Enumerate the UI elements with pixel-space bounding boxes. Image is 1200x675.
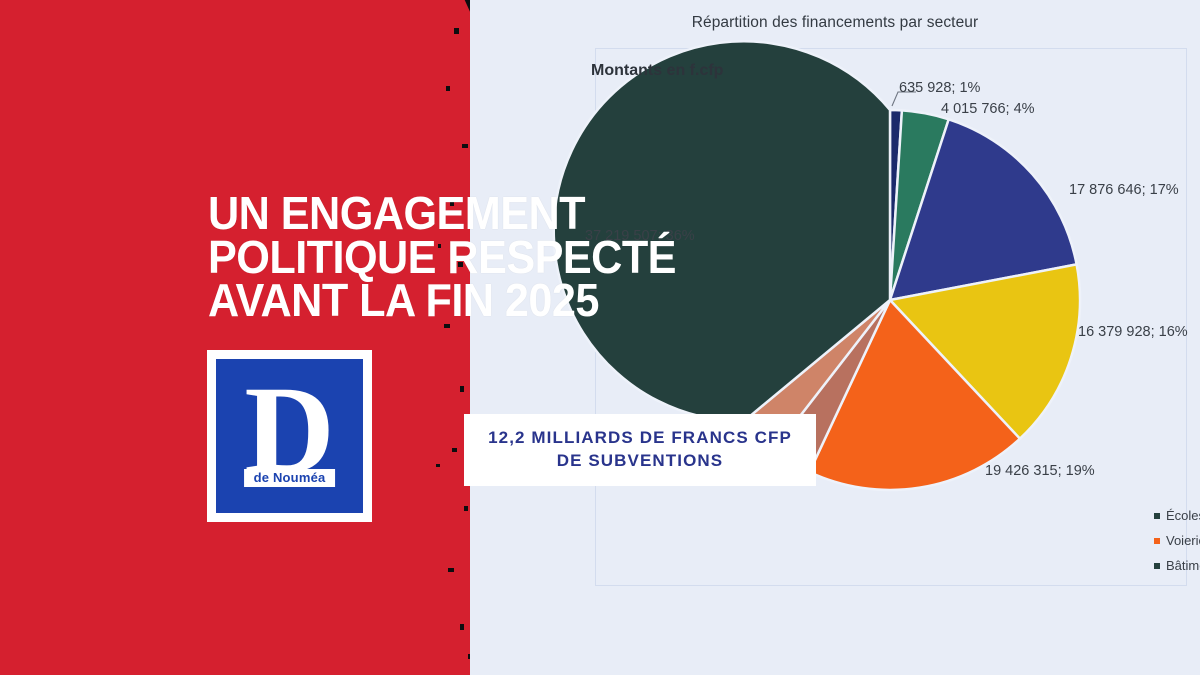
- legend-label: Écoles: [1166, 508, 1200, 523]
- banner-line-1: 12,2 MILLIARDS DE FRANCS CFP: [488, 427, 792, 450]
- banner-line-2: DE SUBVENTIONS: [557, 450, 724, 473]
- chart-legend: Écoles Collèges/lycées Centres de format…: [1154, 508, 1200, 573]
- chart-axis-label: Montants en f.cfp: [591, 62, 723, 80]
- data-label-centres-de-formation: 16 379 928; 16%: [1078, 324, 1188, 340]
- data-label-voieries: 19 426 315; 19%: [985, 463, 1095, 479]
- data-label-autres: 635 928; 1%: [899, 80, 980, 96]
- data-label-colleges-lycees: 4 015 766; 4%: [941, 101, 1035, 117]
- logo-square: D de Nouméa: [216, 359, 363, 513]
- slide-canvas: UN ENGAGEMENT POLITIQUE RESPECTÉ AVANT L…: [0, 0, 1200, 675]
- legend-label: Bâtiments publics: [1166, 558, 1200, 573]
- legend-swatch-icon: [1154, 513, 1160, 519]
- legend-swatch-icon: [1154, 538, 1160, 544]
- chart-title: Répartition des financements par secteur: [470, 14, 1200, 32]
- legend-label: Voieries: [1166, 533, 1200, 548]
- logo-dnc: D de Nouméa: [207, 350, 372, 522]
- data-label-video-protection: 17 876 646; 17%: [1069, 182, 1179, 198]
- red-background-panel: [0, 0, 470, 675]
- legend-item-ecoles[interactable]: Écoles: [1154, 508, 1200, 523]
- page-title: UN ENGAGEMENT POLITIQUE RESPECTÉ AVANT L…: [208, 192, 734, 323]
- legend-swatch-icon: [1154, 563, 1160, 569]
- legend-item-voieries[interactable]: Voieries: [1154, 533, 1200, 548]
- legend-item-batiments-publics[interactable]: Bâtiments publics: [1154, 558, 1200, 573]
- logo-subtitle: de Nouméa: [244, 469, 336, 487]
- subventions-banner: 12,2 MILLIARDS DE FRANCS CFP DE SUBVENTI…: [464, 414, 816, 486]
